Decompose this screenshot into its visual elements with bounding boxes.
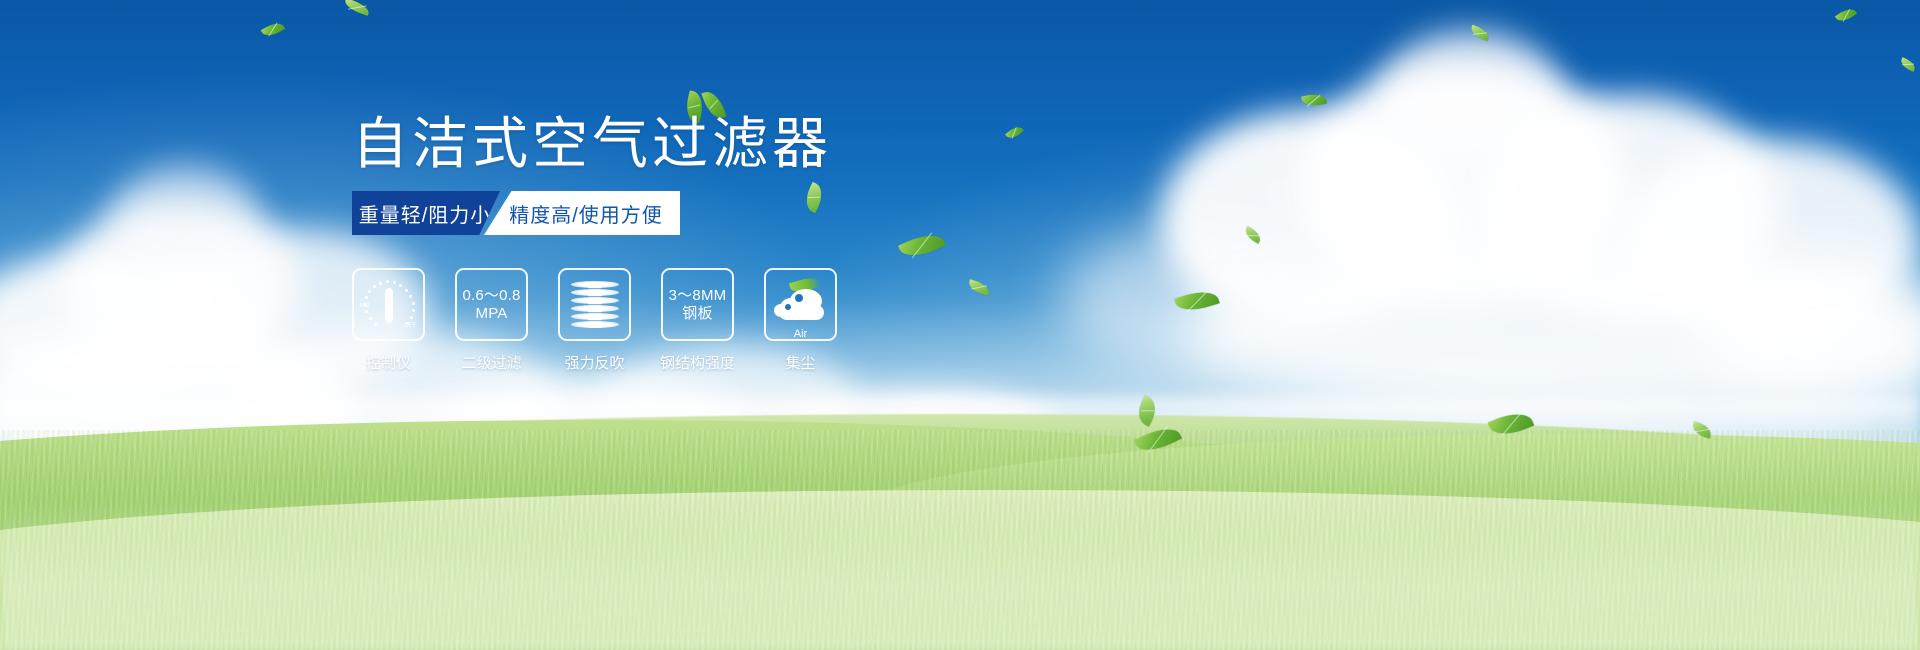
feature-label: 控制仪 [366,352,411,373]
steel-value-line2: 钢板 [682,305,712,323]
coil-icon [571,281,619,329]
gauge-no-label: NO [360,302,370,309]
feature-icon-box: Air [764,268,837,341]
air-caption: Air [766,328,835,340]
tag-bar: 重量轻/阻力小 精度高/使用方便 [352,191,680,235]
feature-icon-box: 0.6～0.8 MPA [455,268,528,341]
steel-value-line1: 3～8MM [669,287,727,305]
gauge-off-label: OFF [404,323,417,329]
feature-icon-box [558,268,631,341]
dust-cloud-icon [774,285,828,325]
tag-lightweight[interactable]: 重量轻/阻力小 [352,191,500,235]
feature-item-blowback[interactable]: 强力反吹 [558,268,631,373]
tag-precision[interactable]: 精度高/使用方便 [484,191,680,235]
product-hero-banner: 自洁式空气过滤器 重量轻/阻力小 精度高/使用方便 [0,0,1920,650]
feature-item-steel[interactable]: 3～8MM 钢板 钢结构强度 [661,268,734,373]
feature-item-controller[interactable]: NO OFF 控制仪 [352,268,425,373]
feature-list: NO OFF 控制仪 0.6～0.8 MPA 二级过滤 [352,268,837,373]
feature-icon-box: 3～8MM 钢板 [661,268,734,341]
gauge-icon: NO OFF [361,280,417,330]
feature-label: 钢结构强度 [660,352,735,373]
page-title: 自洁式空气过滤器 [352,114,832,174]
feature-label: 二级过滤 [461,352,521,373]
gauge-needle [385,288,393,323]
feature-item-dust[interactable]: Air 集尘 [764,268,837,373]
pressure-value-line2: MPA [476,305,508,323]
feature-label: 集尘 [785,352,815,373]
feature-label: 强力反吹 [564,352,624,373]
pressure-value-line1: 0.6～0.8 [462,287,520,305]
feature-item-filtration[interactable]: 0.6～0.8 MPA 二级过滤 [455,268,528,373]
banner-content: 自洁式空气过滤器 重量轻/阻力小 精度高/使用方便 [0,0,1920,650]
feature-icon-box: NO OFF [352,268,425,341]
